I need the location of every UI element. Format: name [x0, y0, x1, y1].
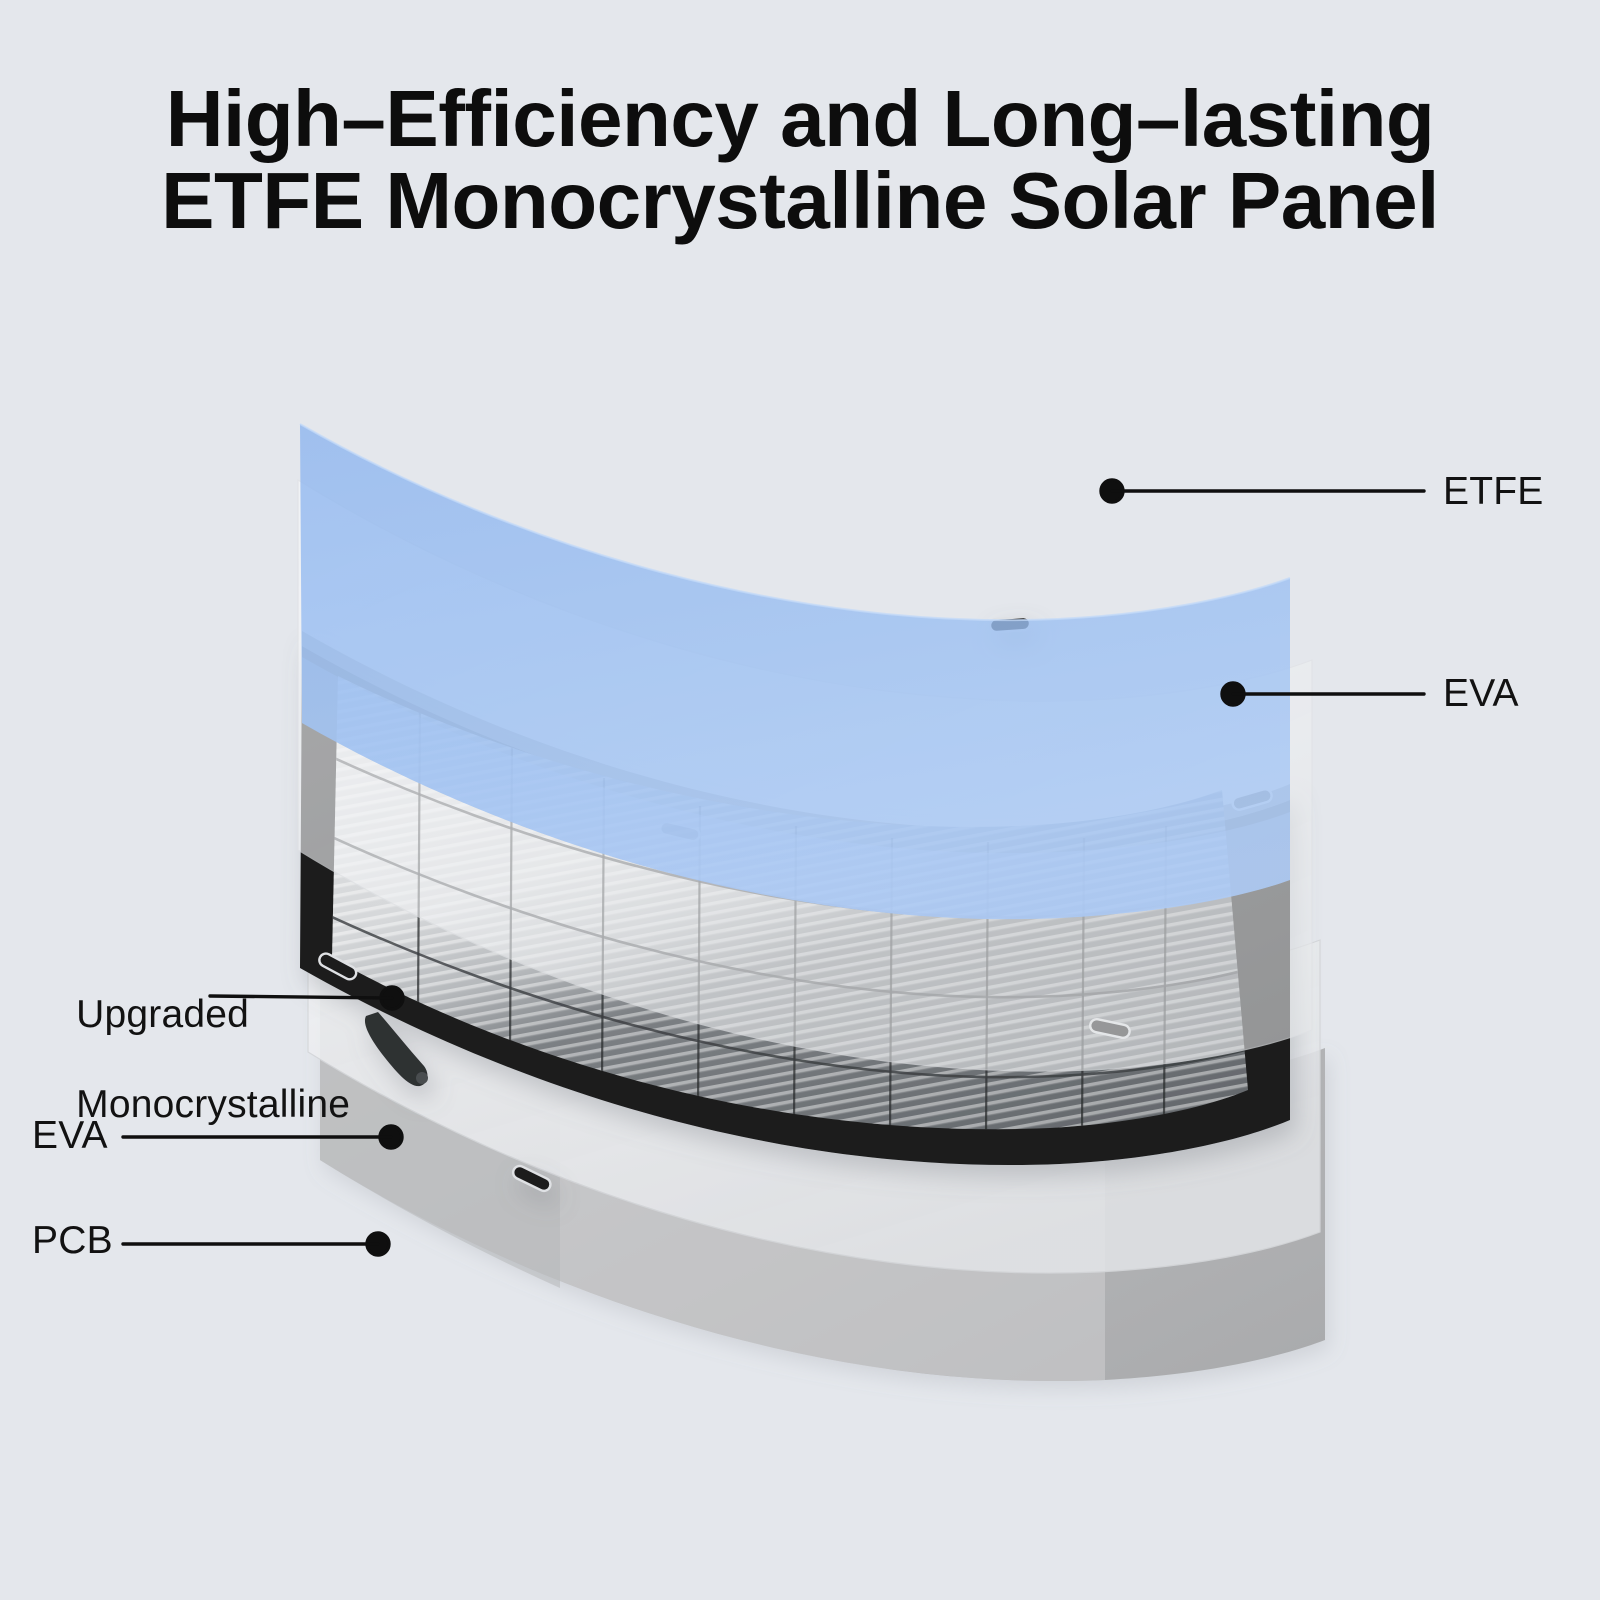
- leader-etfe: [1101, 480, 1424, 502]
- exploded-view-illustration: [0, 0, 1600, 1600]
- leader-pcb: [123, 1233, 389, 1255]
- callout-label-eva-bottom: EVA: [32, 1114, 108, 1159]
- callout-label-monocrystalline-line2: Monocrystalline: [76, 1083, 350, 1126]
- callout-label-etfe: ETFE: [1443, 470, 1543, 515]
- callout-label-monocrystalline-line1: Upgraded: [76, 993, 249, 1036]
- callout-label-pcb: PCB: [32, 1219, 113, 1264]
- callout-label-eva-top: EVA: [1443, 672, 1519, 717]
- exploded-layer-diagram: ETFE EVA Upgraded Monocrystalline EVA PC…: [0, 0, 1600, 1600]
